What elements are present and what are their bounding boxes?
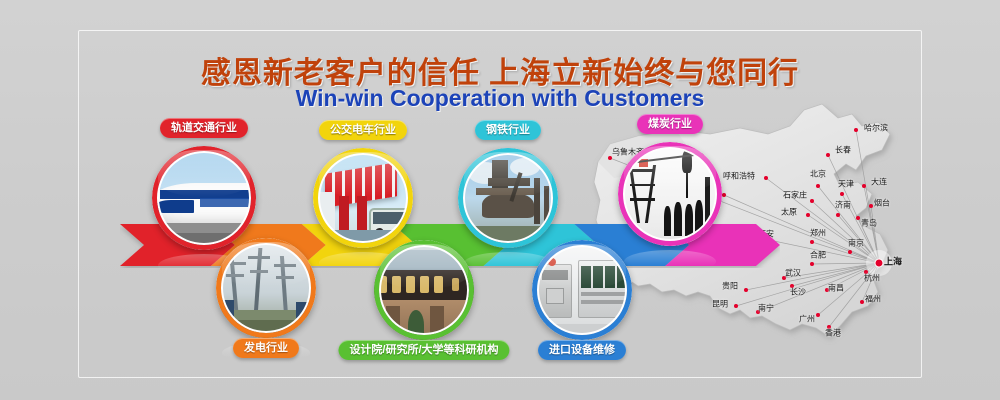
- map-city-label: 石家庄: [783, 190, 807, 201]
- map-city-label: 青岛: [861, 218, 877, 229]
- industry-badge[interactable]: 钢铁行业: [475, 120, 541, 140]
- map-city-label: 北京: [810, 169, 826, 180]
- map-city-label: 南京: [848, 238, 864, 249]
- map-city-dot: [764, 176, 768, 180]
- map-city-dot: [869, 204, 873, 208]
- map-city-label: 合肥: [810, 250, 826, 261]
- map-city-label: 武汉: [785, 268, 801, 279]
- map-city-label: 上海: [884, 255, 902, 268]
- map-city-dot: [848, 250, 852, 254]
- map-city-label: 长春: [835, 145, 851, 156]
- industry-badge[interactable]: 设计院/研究所/大学等科研机构: [338, 340, 509, 360]
- map-city-label: 杭州: [864, 273, 880, 284]
- industry-circle-bottom-2[interactable]: [532, 240, 632, 340]
- map-city-dot: [816, 313, 820, 317]
- page-subtitle: Win-win Cooperation with Customers: [0, 85, 1000, 112]
- industry-badge[interactable]: 公交电车行业: [319, 120, 407, 140]
- map-city-dot: [826, 153, 830, 157]
- power-transmission-towers-photo: [216, 238, 316, 338]
- map-city-dot: [810, 199, 814, 203]
- industry-badge[interactable]: 发电行业: [233, 338, 299, 358]
- map-city-label: 呼和浩特: [723, 171, 755, 182]
- map-city-label: 贵阳: [722, 281, 738, 292]
- map-city-dot: [876, 260, 883, 267]
- steel-mill-blast-furnace-photo: [458, 148, 558, 248]
- map-city-label: 广州: [799, 314, 815, 325]
- map-city-label: 济南: [835, 200, 851, 211]
- map-city-dot: [836, 213, 840, 217]
- china-pavilion-and-bus-photo: [313, 148, 413, 248]
- university-building-sign-photo: [374, 240, 474, 340]
- map-city-label: 南昌: [828, 283, 844, 294]
- map-city-dot: [810, 262, 814, 266]
- map-city-label: 烟台: [874, 198, 890, 209]
- coal-mine-workers-silhouette-photo: [618, 142, 722, 246]
- map-city-label: 福州: [865, 294, 881, 305]
- map-city-label: 哈尔滨: [864, 123, 888, 134]
- map-city-dot: [862, 184, 866, 188]
- industry-badge[interactable]: 进口设备维修: [538, 340, 626, 360]
- industry-circle-top-1[interactable]: [313, 148, 413, 248]
- map-city-dot: [806, 213, 810, 217]
- map-city-label: 大连: [871, 177, 887, 188]
- map-city-label: 香港: [825, 328, 841, 339]
- map-city-dot: [854, 128, 858, 132]
- industry-badge[interactable]: 煤炭行业: [637, 114, 703, 134]
- map-city-label: 南宁: [758, 303, 774, 314]
- map-city-dot: [856, 216, 860, 220]
- electrical-switchgear-cabinets-photo: [532, 240, 632, 340]
- high-speed-train-photo: [152, 146, 256, 250]
- industry-circle-bottom-1[interactable]: [374, 240, 474, 340]
- industry-badge[interactable]: 轨道交通行业: [160, 118, 248, 138]
- map-city-dot: [722, 193, 726, 197]
- map-city-dot: [810, 240, 814, 244]
- map-city-label: 天津: [838, 179, 854, 190]
- banner-stage: 哈尔滨长春乌鲁木齐呼和浩特北京天津大连银川石家庄济南烟台太原青岛西安郑州南京合肥…: [0, 0, 1000, 400]
- map-city-label: 郑州: [810, 228, 826, 239]
- industry-circle-top-3[interactable]: [618, 142, 722, 246]
- map-city-dot: [744, 288, 748, 292]
- map-city-label: 昆明: [712, 299, 728, 310]
- map-city-dot: [860, 300, 864, 304]
- industry-circle-top-2[interactable]: [458, 148, 558, 248]
- map-city-dot: [816, 184, 820, 188]
- map-city-label: 长沙: [790, 287, 806, 298]
- industry-circle-top-0[interactable]: [152, 146, 256, 250]
- industry-circle-bottom-0[interactable]: [216, 238, 316, 338]
- map-city-dot: [734, 304, 738, 308]
- map-city-dot: [840, 192, 844, 196]
- map-city-label: 太原: [781, 207, 797, 218]
